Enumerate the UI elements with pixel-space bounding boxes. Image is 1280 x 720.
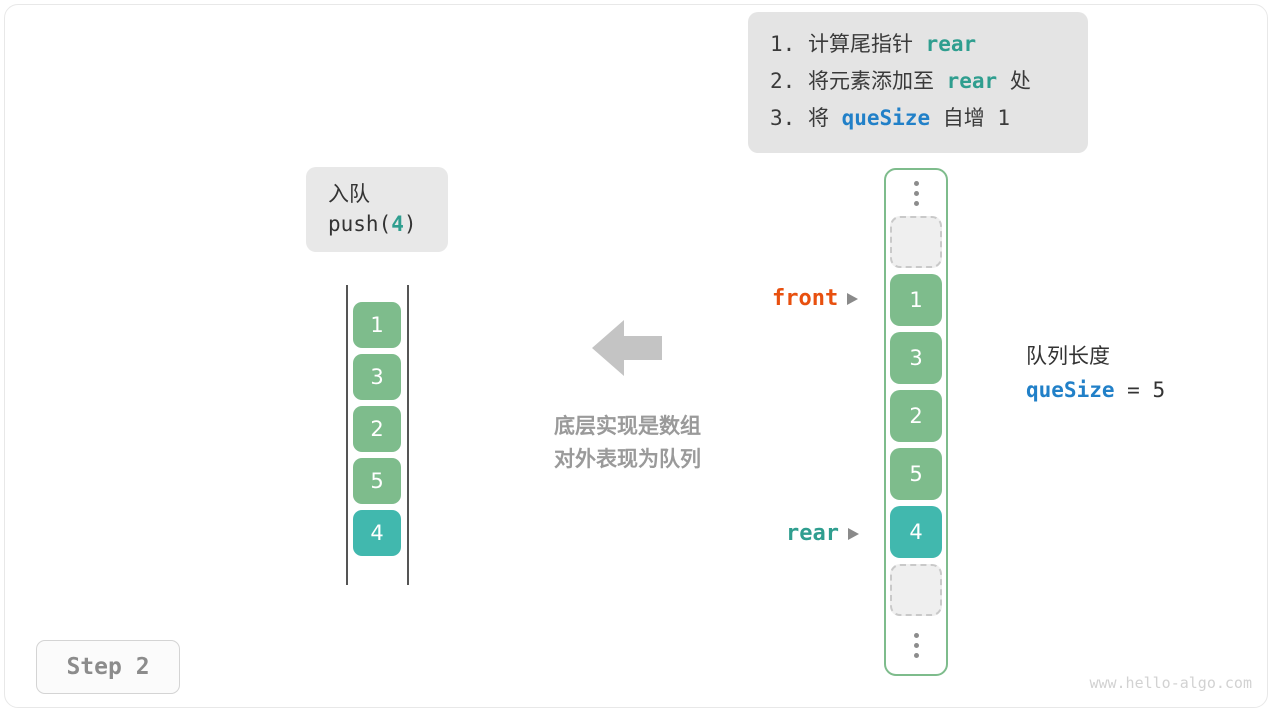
- instruction-line-2: 2. 将元素添加至 rear 处: [748, 63, 1088, 100]
- array-implementation-view: 1 3 2 5 4: [884, 168, 948, 676]
- instruction-3-code: queSize: [842, 106, 931, 130]
- caption-line-2: 对外表现为队列: [520, 443, 735, 476]
- instruction-2-code: rear: [947, 69, 998, 93]
- rear-pointer-label: rear: [786, 521, 859, 546]
- front-pointer-text: front: [772, 286, 838, 311]
- push-code-value: 4: [391, 212, 404, 236]
- queue-abstract-view: 1 3 2 5 4: [346, 285, 410, 585]
- instruction-2-number: 2.: [770, 69, 795, 93]
- array-slot: 5: [890, 448, 942, 500]
- center-caption: 底层实现是数组 对外表现为队列: [520, 410, 735, 476]
- instruction-1-number: 1.: [770, 32, 795, 56]
- push-code-prefix: push(: [328, 212, 391, 236]
- push-callout-box: 入队 push(4): [306, 167, 448, 252]
- array-slot: 4: [890, 506, 942, 558]
- instruction-3-text-after: 自增 1: [930, 106, 1010, 130]
- arrow-right-icon: [847, 293, 858, 305]
- rear-pointer-text: rear: [786, 521, 839, 546]
- push-code-suffix: ): [404, 212, 417, 236]
- array-slot: 3: [890, 332, 942, 384]
- instruction-1-code: rear: [926, 32, 977, 56]
- instruction-2-text-before: 将元素添加至: [795, 69, 946, 93]
- queue-size-expression: queSize = 5: [1026, 372, 1165, 408]
- queue-size-value: 5: [1152, 378, 1165, 402]
- vertical-ellipsis-bottom-icon: [914, 622, 919, 668]
- queue-cell: 5: [353, 458, 401, 504]
- caption-line-1: 底层实现是数组: [520, 410, 735, 443]
- instruction-line-1: 1. 计算尾指针 rear: [748, 26, 1088, 63]
- queue-cell: 1: [353, 302, 401, 348]
- array-slot-empty: [890, 216, 942, 268]
- instruction-1-text-before: 计算尾指针: [795, 32, 925, 56]
- instruction-box: 1. 计算尾指针 rear 2. 将元素添加至 rear 处 3. 将 queS…: [748, 12, 1088, 153]
- instruction-2-text-after: 处: [997, 69, 1031, 93]
- array-slot: 1: [890, 274, 942, 326]
- queue-rail-left: [346, 285, 348, 585]
- queue-cell: 3: [353, 354, 401, 400]
- queue-cell-list: 1 3 2 5 4: [353, 302, 401, 562]
- queue-size-equals: =: [1115, 378, 1153, 402]
- arrow-right-icon: [848, 528, 859, 540]
- watermark: www.hello-algo.com: [1089, 674, 1252, 692]
- step-badge-label: Step 2: [66, 654, 149, 680]
- array-slot-empty: [890, 564, 942, 616]
- array-slot: 2: [890, 390, 942, 442]
- instruction-line-3: 3. 将 queSize 自增 1: [748, 100, 1088, 137]
- left-arrow-icon: [592, 318, 662, 378]
- instruction-3-number: 3.: [770, 106, 795, 130]
- diagram-canvas: 1. 计算尾指针 rear 2. 将元素添加至 rear 处 3. 将 queS…: [0, 0, 1280, 720]
- queue-size-title: 队列长度: [1026, 340, 1165, 372]
- push-callout-title: 入队: [328, 179, 448, 209]
- queue-cell: 2: [353, 406, 401, 452]
- front-pointer-label: front: [772, 286, 858, 311]
- instruction-3-text-before: 将: [795, 106, 841, 130]
- queue-cell: 4: [353, 510, 401, 556]
- push-callout-code: push(4): [328, 209, 448, 239]
- queue-size-var: queSize: [1026, 378, 1115, 402]
- queue-rail-right: [407, 285, 409, 585]
- vertical-ellipsis-top-icon: [914, 170, 919, 216]
- step-badge: Step 2: [36, 640, 180, 694]
- queue-size-note: 队列长度 queSize = 5: [1026, 340, 1165, 408]
